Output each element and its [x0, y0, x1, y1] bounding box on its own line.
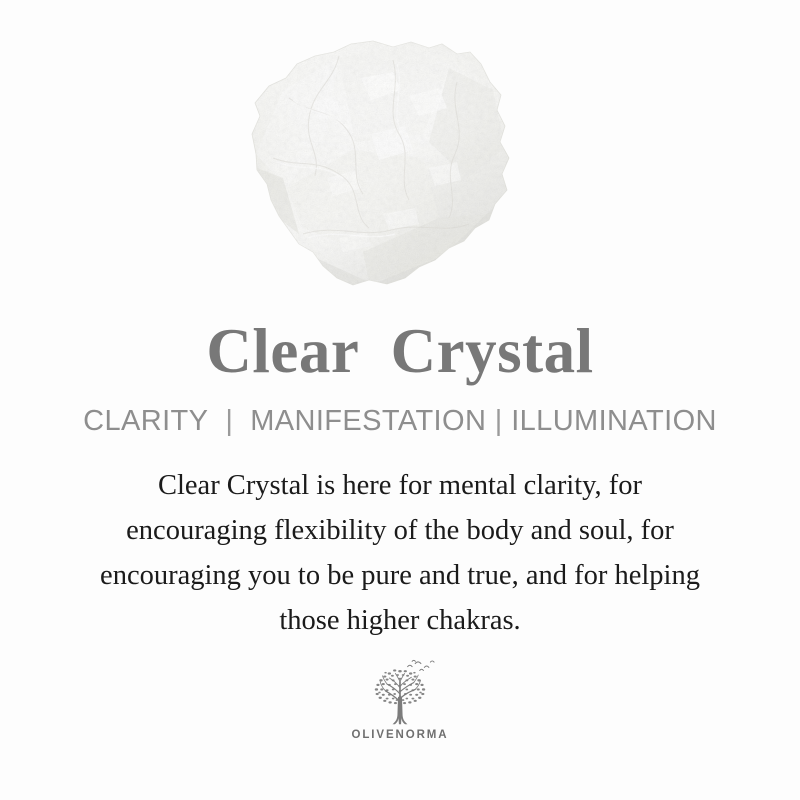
- brand-name: OLIVENORMA: [352, 730, 449, 742]
- attribute-manifestation: MANIFESTATION: [250, 405, 486, 437]
- product-title: Clear Crystal: [206, 318, 593, 384]
- product-description: Clear Crystal is here for mental clarity…: [50, 463, 750, 643]
- attribute-clarity: CLARITY: [83, 405, 208, 437]
- product-attributes: CLARITY | MANIFESTATION | ILLUMINATION: [83, 407, 717, 436]
- tree-of-life-with-birds-icon: [362, 659, 438, 729]
- brand-logo: OLIVENORMA: [352, 659, 449, 742]
- description-line: those higher chakras.: [50, 598, 750, 643]
- product-info-card: Clear Crystal CLARITY | MANIFESTATION | …: [0, 0, 800, 800]
- attribute-separator-2: |: [495, 405, 503, 437]
- product-image-area: [0, 0, 800, 318]
- raw-clear-quartz-crystal-photo: [243, 38, 523, 288]
- description-line: Clear Crystal is here for mental clarity…: [50, 463, 750, 508]
- description-line: encouraging you to be pure and true, and…: [50, 553, 750, 598]
- attribute-illumination: ILLUMINATION: [511, 405, 717, 437]
- description-line: encouraging flexibility of the body and …: [50, 508, 750, 553]
- clear-quartz-crystal-image: [243, 38, 523, 288]
